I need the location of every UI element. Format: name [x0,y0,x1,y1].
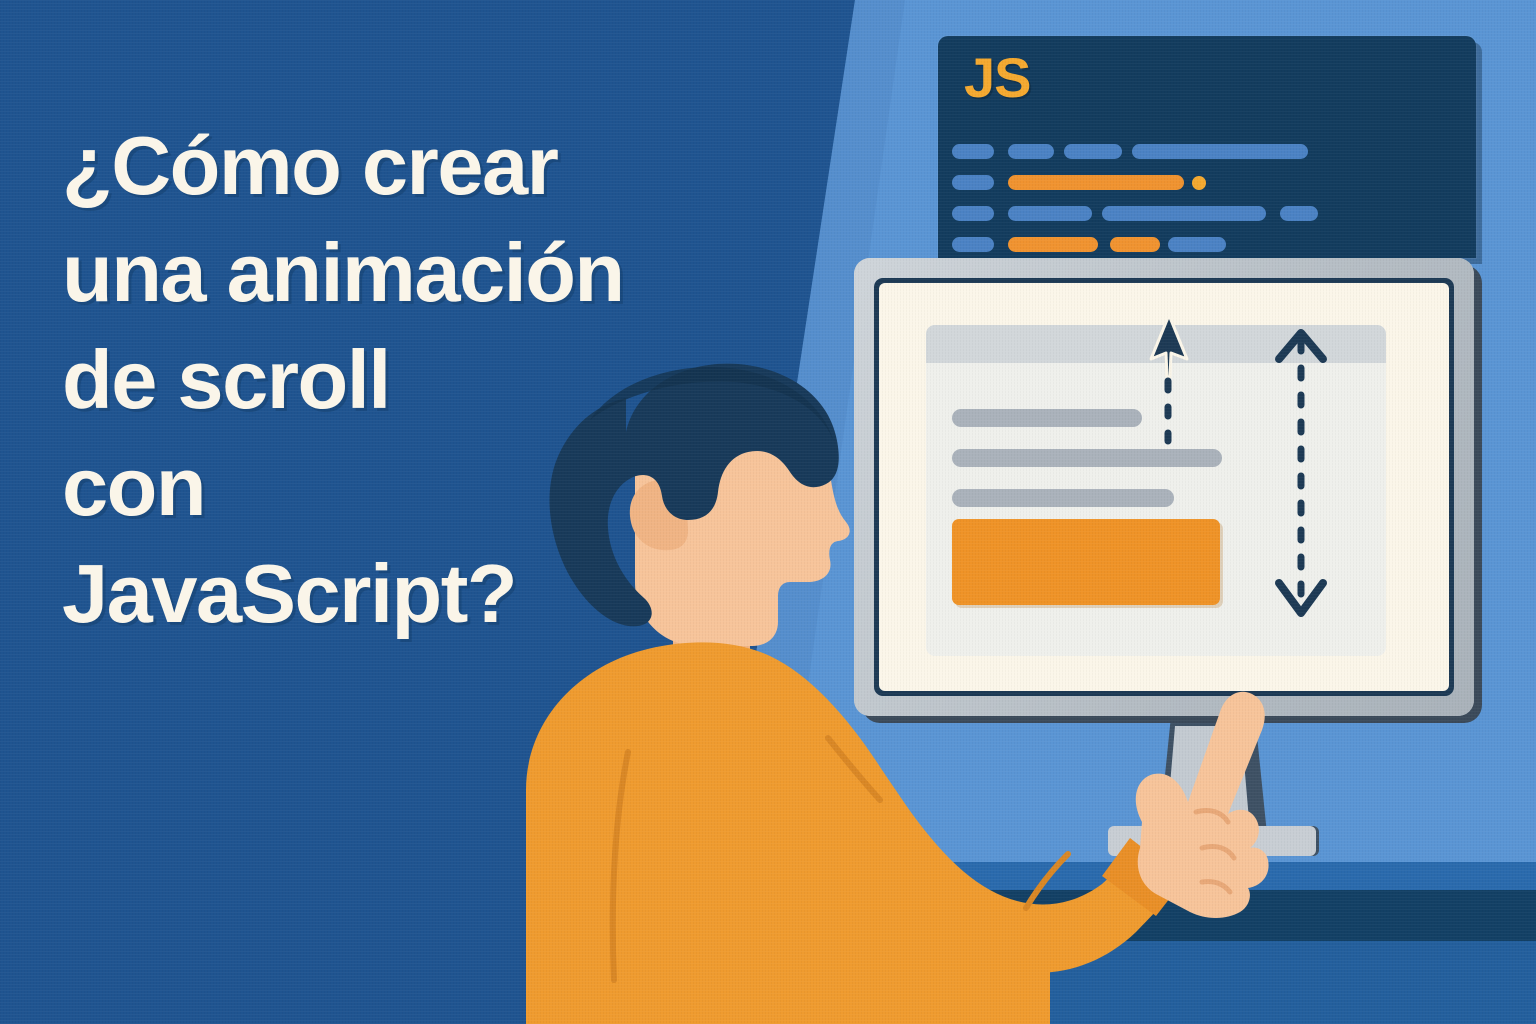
code-line-segment [1008,144,1054,159]
js-logo: JS [964,50,1031,106]
code-line-segment [1102,206,1266,221]
code-line-segment [952,206,994,221]
person-hand [1136,692,1269,918]
wireframe-header-bar [926,325,1386,363]
code-editor-window[interactable]: JS [938,36,1476,258]
code-line-segment [952,175,994,190]
sweater-fold-forearm [1026,854,1068,908]
person-sweater [526,642,1050,1024]
code-line-segment-highlight [1008,175,1184,190]
code-line-segment [1168,237,1226,252]
code-caret-dot-icon [1192,176,1206,190]
code-line-segment [952,237,994,252]
code-line-segment [952,144,994,159]
code-line-segment [1280,206,1318,221]
code-line-segment-highlight [1110,237,1160,252]
code-line-segment-highlight [1008,237,1098,252]
code-line-segment [1008,206,1092,221]
page-title: ¿Cómo crear una animación de scroll con … [62,112,802,647]
code-line-segment [1064,144,1122,159]
illustration-canvas: JS [0,0,1536,1024]
code-line-segment [1132,144,1308,159]
